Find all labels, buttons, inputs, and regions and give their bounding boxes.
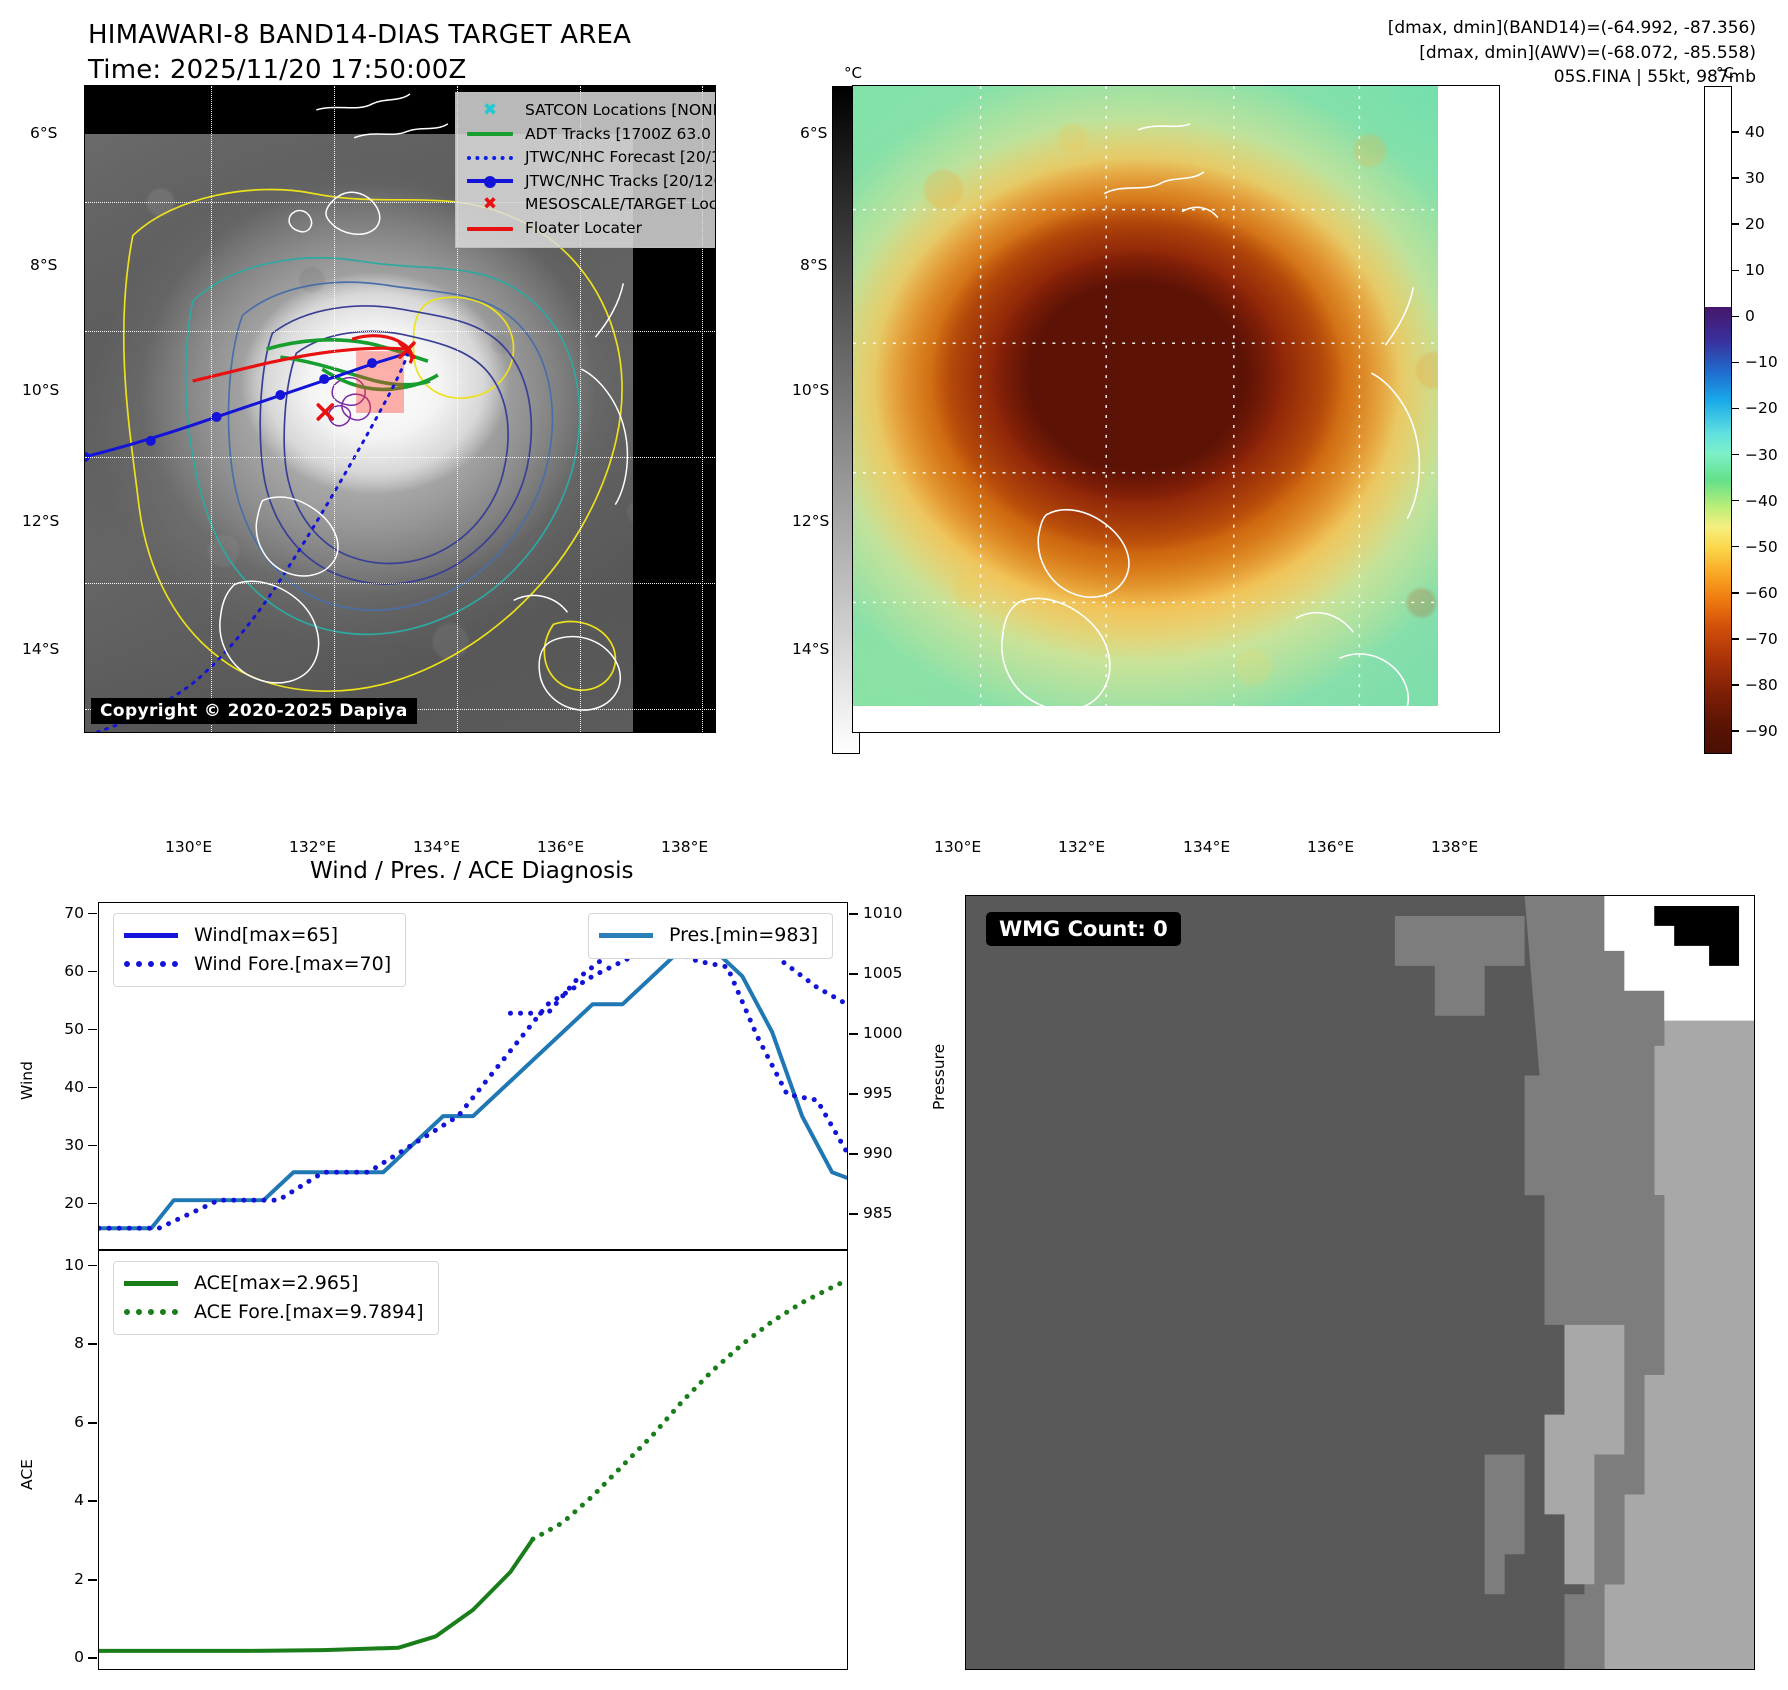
y-tick-label-1005: 1005	[863, 964, 902, 982]
legend-label-jtwc-forecast: JTWC/NHC Forecast [20/1200Z]	[525, 146, 716, 170]
series-1-line	[99, 954, 847, 1228]
y-tick-mark	[849, 1153, 858, 1155]
colorbar-tick-minus50: −50	[1732, 538, 1778, 556]
colorbar-tick-20: 20	[1732, 215, 1765, 233]
y-tick-mark	[88, 1579, 97, 1581]
colorbar-tick-minus70: −70	[1732, 630, 1778, 648]
series-1-line	[533, 1280, 847, 1539]
y-tick-label-40: 40	[32, 1078, 84, 1096]
map-left-gridline-h3	[85, 457, 715, 458]
tick-mark	[1732, 684, 1739, 686]
colorbar-tick-minus10: −10	[1732, 353, 1778, 371]
satellite-awv-map[interactable]	[852, 85, 1500, 733]
tick-label: 10	[1745, 261, 1765, 279]
y-tick-mark	[88, 1087, 97, 1089]
y-tick-label-1010: 1010	[863, 904, 902, 922]
y-tick-mark	[88, 1265, 97, 1267]
y-tick-label-8: 8	[32, 1334, 84, 1352]
y-tick-label-1000: 1000	[863, 1024, 902, 1042]
tick-mark	[1732, 316, 1739, 318]
y-tick-mark	[849, 1093, 858, 1095]
awv-nodata-right	[1438, 86, 1499, 732]
y-tick-label-30: 30	[32, 1136, 84, 1154]
page-title: HIMAWARI-8 BAND14-DIAS TARGET AREA Time:…	[88, 18, 631, 88]
colorbar-tick-minus40: −40	[1732, 492, 1778, 510]
awv-colorbar-gradient	[1704, 86, 1732, 754]
ace-solid-icon	[124, 1281, 182, 1286]
colorbar-tick-minus60: −60	[1732, 584, 1778, 602]
y-tick-label-70: 70	[32, 904, 84, 922]
y-tick-mark	[88, 1029, 97, 1031]
tick-mark	[1732, 223, 1739, 225]
map-right-lat-14s: 14°S	[792, 640, 829, 658]
dmax-band14-text: [dmax, dmin](BAND14)=(-64.992, -87.356)	[1388, 16, 1756, 41]
tick-mark	[1732, 362, 1739, 364]
tick-label: −60	[1745, 584, 1778, 602]
tick-mark	[1732, 500, 1739, 502]
tick-mark	[1732, 592, 1739, 594]
tick-label: −40	[1745, 492, 1778, 510]
pressure-legend-item: Pres.[min=983]	[599, 921, 818, 950]
y-tick-label-0: 0	[32, 1648, 84, 1666]
tick-mark	[1732, 177, 1739, 179]
awv-colorbar-unit: °C	[1716, 64, 1734, 82]
tick-label: 20	[1745, 215, 1765, 233]
map-right-lon-134e: 134°E	[1183, 838, 1230, 856]
legend-label-satcon: SATCON Locations [NONE]	[525, 99, 716, 123]
wind-legend-item-wind: Wind[max=65]	[124, 921, 391, 950]
y-tick-label-995: 995	[863, 1084, 893, 1102]
awv-colorbar-ticks: 403020100−10−20−30−40−50−60−70−80−90	[1732, 86, 1788, 754]
ace-legend: ACE[max=2.965] ACE Fore.[max=9.7894]	[113, 1261, 439, 1335]
map-right-lat-10s: 10°S	[792, 381, 829, 399]
satcon-x-icon: ✖	[464, 102, 516, 119]
ace-forecast-legend-item: ACE Fore.[max=9.7894]	[124, 1298, 424, 1327]
map-left-lat-6s: 6°S	[30, 124, 57, 142]
awv-texture	[853, 86, 1499, 732]
y-tick-mark	[849, 913, 858, 915]
y-tick-mark	[849, 973, 858, 975]
wind-pressure-chart[interactable]: Wind[max=65] Wind Fore.[max=70] Pres.[mi…	[98, 902, 848, 1250]
tick-label: −80	[1745, 676, 1778, 694]
ace-legend-label: ACE[max=2.965]	[194, 1269, 358, 1298]
y-tick-label-985: 985	[863, 1204, 893, 1222]
pressure-legend: Pres.[min=983]	[588, 913, 833, 959]
y-tick-mark	[88, 1145, 97, 1147]
colorbar-tick-minus20: −20	[1732, 399, 1778, 417]
tick-mark	[1732, 454, 1739, 456]
wind-legend-item-forecast: Wind Fore.[max=70]	[124, 950, 391, 979]
y-tick-mark	[88, 1500, 97, 1502]
y-tick-mark	[88, 1343, 97, 1345]
pressure-solid-icon	[599, 933, 657, 938]
legend-item-jtwc-forecast: JTWC/NHC Forecast [20/1200Z]	[464, 146, 716, 170]
ir-colorbar-unit: °C	[844, 64, 862, 82]
ace-axis-label: ACE	[18, 1459, 36, 1490]
tick-label: 30	[1745, 169, 1765, 187]
y-tick-label-20: 20	[32, 1194, 84, 1212]
y-tick-mark	[849, 1033, 858, 1035]
legend-item-floater: Floater Locater	[464, 217, 716, 241]
pressure-legend-label: Pres.[min=983]	[669, 921, 818, 950]
map-left-lon-136e: 136°E	[537, 838, 584, 856]
wmg-mask-image	[966, 896, 1754, 1669]
ace-forecast-legend-label: ACE Fore.[max=9.7894]	[194, 1298, 424, 1327]
legend-label-floater: Floater Locater	[525, 217, 642, 241]
map-right-lat-8s: 8°S	[800, 256, 827, 274]
tick-mark	[1732, 546, 1739, 548]
mesoscale-x-icon: ✖	[464, 196, 516, 213]
satellite-ir-map[interactable]: ✖ SATCON Locations [NONE] ADT Tracks [17…	[84, 85, 716, 733]
wind-legend: Wind[max=65] Wind Fore.[max=70]	[113, 913, 406, 987]
y-tick-mark	[88, 1203, 97, 1205]
wmg-panel[interactable]: WMG Count: 0	[965, 895, 1755, 1670]
y-tick-label-2: 2	[32, 1570, 84, 1588]
legend-label-jtwc-tracks: JTWC/NHC Tracks [20/1200Z]	[525, 170, 716, 194]
legend-item-adt: ADT Tracks [1700Z 63.0 987.8]	[464, 123, 716, 147]
map-left-lat-8s: 8°S	[30, 256, 57, 274]
map-legend: ✖ SATCON Locations [NONE] ADT Tracks [17…	[455, 92, 716, 248]
map-left-lon-134e: 134°E	[413, 838, 460, 856]
map-left-gridline-h4	[85, 583, 715, 584]
tick-mark	[1732, 131, 1739, 133]
series-0-line	[99, 1539, 533, 1651]
map-left-lat-10s: 10°S	[22, 381, 59, 399]
y-tick-mark	[88, 913, 97, 915]
floater-line-icon	[464, 227, 516, 231]
wind-solid-icon	[124, 933, 182, 938]
map-right-lat-12s: 12°S	[792, 512, 829, 530]
colorbar-tick-40: 40	[1732, 123, 1765, 141]
ace-legend-item: ACE[max=2.965]	[124, 1269, 424, 1298]
wind-forecast-legend-label: Wind Fore.[max=70]	[194, 950, 391, 979]
y-tick-label-990: 990	[863, 1144, 893, 1162]
legend-item-mesoscale: ✖ MESOSCALE/TARGET Location	[464, 193, 716, 217]
map-right-lon-132e: 132°E	[1058, 838, 1105, 856]
map-left-lon-138e: 138°E	[661, 838, 708, 856]
legend-item-satcon: ✖ SATCON Locations [NONE]	[464, 99, 716, 123]
y-tick-label-6: 6	[32, 1413, 84, 1431]
wind-forecast-dotted-icon	[124, 961, 182, 967]
map-left-gridline-v1	[211, 86, 212, 732]
map-left-lon-130e: 130°E	[165, 838, 212, 856]
series-2-line	[510, 950, 847, 1153]
y-tick-mark	[88, 1422, 97, 1424]
tick-label: −50	[1745, 538, 1778, 556]
legend-label-mesoscale: MESOSCALE/TARGET Location	[525, 193, 716, 217]
y-tick-label-10: 10	[32, 1256, 84, 1274]
colorbar-tick-10: 10	[1732, 261, 1765, 279]
colorbar-tick-0: 0	[1732, 307, 1755, 325]
colorbar-tick-minus30: −30	[1732, 446, 1778, 464]
awv-colorbar: °C 403020100−10−20−30−40−50−60−70−80−90	[1698, 60, 1788, 760]
colorbar-tick-minus90: −90	[1732, 722, 1778, 740]
wmg-count-badge: WMG Count: 0	[986, 912, 1181, 946]
tick-label: −20	[1745, 399, 1778, 417]
tick-mark	[1732, 638, 1739, 640]
tick-mark	[1732, 270, 1739, 272]
tick-label: −10	[1745, 353, 1778, 371]
map-right-lon-138e: 138°E	[1431, 838, 1478, 856]
series-0-line	[99, 948, 847, 1228]
title-text: HIMAWARI-8 BAND14-DIAS TARGET AREA	[88, 18, 631, 53]
y-tick-mark	[88, 971, 97, 973]
y-tick-label-50: 50	[32, 1020, 84, 1038]
map-left-lat-14s: 14°S	[22, 640, 59, 658]
wind-legend-label: Wind[max=65]	[194, 921, 338, 950]
map-right-lon-136e: 136°E	[1307, 838, 1354, 856]
colorbar-tick-30: 30	[1732, 169, 1765, 187]
ace-forecast-dotted-icon	[124, 1309, 182, 1315]
jtwc-forecast-dotted-icon	[464, 156, 516, 160]
ace-chart[interactable]: ACE[max=2.965] ACE Fore.[max=9.7894]	[98, 1250, 848, 1670]
tick-mark	[1732, 730, 1739, 732]
legend-item-jtwc-tracks: JTWC/NHC Tracks [20/1200Z]	[464, 170, 716, 194]
pressure-axis-label: Pressure	[930, 1044, 948, 1110]
legend-label-adt: ADT Tracks [1700Z 63.0 987.8]	[525, 123, 716, 147]
tick-label: 0	[1745, 307, 1755, 325]
y-tick-mark	[849, 1213, 858, 1215]
y-tick-label-60: 60	[32, 962, 84, 980]
tick-label: 40	[1745, 123, 1765, 141]
tick-mark	[1732, 408, 1739, 410]
jtwc-tracks-marker-icon	[464, 177, 516, 185]
tick-label: −30	[1745, 446, 1778, 464]
dashboard-root: HIMAWARI-8 BAND14-DIAS TARGET AREA Time:…	[0, 0, 1788, 1690]
map-right-lat-6s: 6°S	[800, 124, 827, 142]
y-tick-label-4: 4	[32, 1491, 84, 1509]
map-left-gridline-h2	[85, 331, 715, 332]
colorbar-tick-minus80: −80	[1732, 676, 1778, 694]
title-time: Time: 2025/11/20 17:50:00Z	[88, 53, 631, 88]
adt-line-icon	[464, 132, 516, 136]
map-left-lat-12s: 12°S	[22, 512, 59, 530]
map-left-lon-132e: 132°E	[289, 838, 336, 856]
copyright-notice: Copyright © 2020-2025 Dapiya	[91, 698, 417, 724]
y-tick-mark	[88, 1657, 97, 1659]
diagnosis-title: Wind / Pres. / ACE Diagnosis	[310, 858, 633, 884]
map-left-gridline-v2	[334, 86, 335, 732]
tick-label: −90	[1745, 722, 1778, 740]
awv-nodata-bottom	[853, 706, 1499, 732]
map-right-lon-130e: 130°E	[934, 838, 981, 856]
tick-label: −70	[1745, 630, 1778, 648]
